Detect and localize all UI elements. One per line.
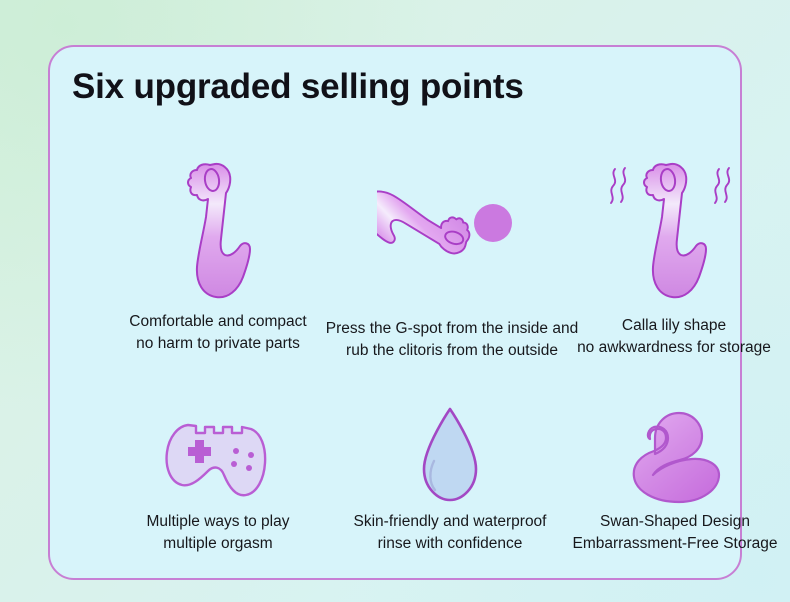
feature-art <box>550 155 790 305</box>
feature-art <box>98 155 338 305</box>
feature-caption: Calla lily shape no awkwardness for stor… <box>550 315 790 359</box>
calla-lily-device-icon <box>170 155 266 305</box>
gamepad-icon <box>158 413 278 507</box>
caption-line-2: no harm to private parts <box>98 333 338 355</box>
page-title: Six upgraded selling points <box>72 67 524 107</box>
feature-card: Six upgraded selling points <box>48 45 742 580</box>
vibrating-device-icon <box>605 155 743 305</box>
feature-item-multiple-ways-to-play: Multiple ways to play multiple orgasm <box>98 399 338 579</box>
vibration-waves-left-icon <box>611 168 625 203</box>
feature-item-comfortable-compact: Comfortable and compact no harm to priva… <box>98 155 338 367</box>
caption-line-2: rinse with confidence <box>325 533 575 555</box>
device-rotated-with-clitoris-dot-icon <box>377 185 527 305</box>
feature-item-skin-friendly-waterproof: Skin-friendly and waterproof rinse with … <box>325 399 575 579</box>
caption-line-2: no awkwardness for storage <box>550 337 790 359</box>
feature-item-swan-shaped-design: Swan-Shaped Design Embarrassment-Free St… <box>545 399 790 579</box>
feature-caption: Comfortable and compact no harm to priva… <box>98 311 338 355</box>
promo-graphic: Six upgraded selling points <box>0 0 790 602</box>
vibration-waves-right-icon <box>715 168 729 203</box>
caption-line-1: Skin-friendly and waterproof <box>325 511 575 533</box>
feature-art <box>545 399 790 507</box>
water-drop-icon <box>414 403 486 507</box>
caption-line-1: Swan-Shaped Design <box>545 511 790 533</box>
caption-line-2: multiple orgasm <box>98 533 338 555</box>
feature-art <box>98 399 338 507</box>
feature-caption: Skin-friendly and waterproof rinse with … <box>325 511 575 555</box>
feature-caption: Multiple ways to play multiple orgasm <box>98 511 338 555</box>
feature-item-calla-lily-shape: Calla lily shape no awkwardness for stor… <box>550 155 790 367</box>
caption-line-1: Comfortable and compact <box>98 311 338 333</box>
feature-caption: Swan-Shaped Design Embarrassment-Free St… <box>545 511 790 555</box>
caption-line-2: Embarrassment-Free Storage <box>545 533 790 555</box>
clitoris-dot-icon <box>474 204 512 242</box>
feature-art <box>325 399 575 507</box>
swan-icon <box>622 407 728 507</box>
caption-line-1: Multiple ways to play <box>98 511 338 533</box>
caption-line-1: Calla lily shape <box>550 315 790 337</box>
